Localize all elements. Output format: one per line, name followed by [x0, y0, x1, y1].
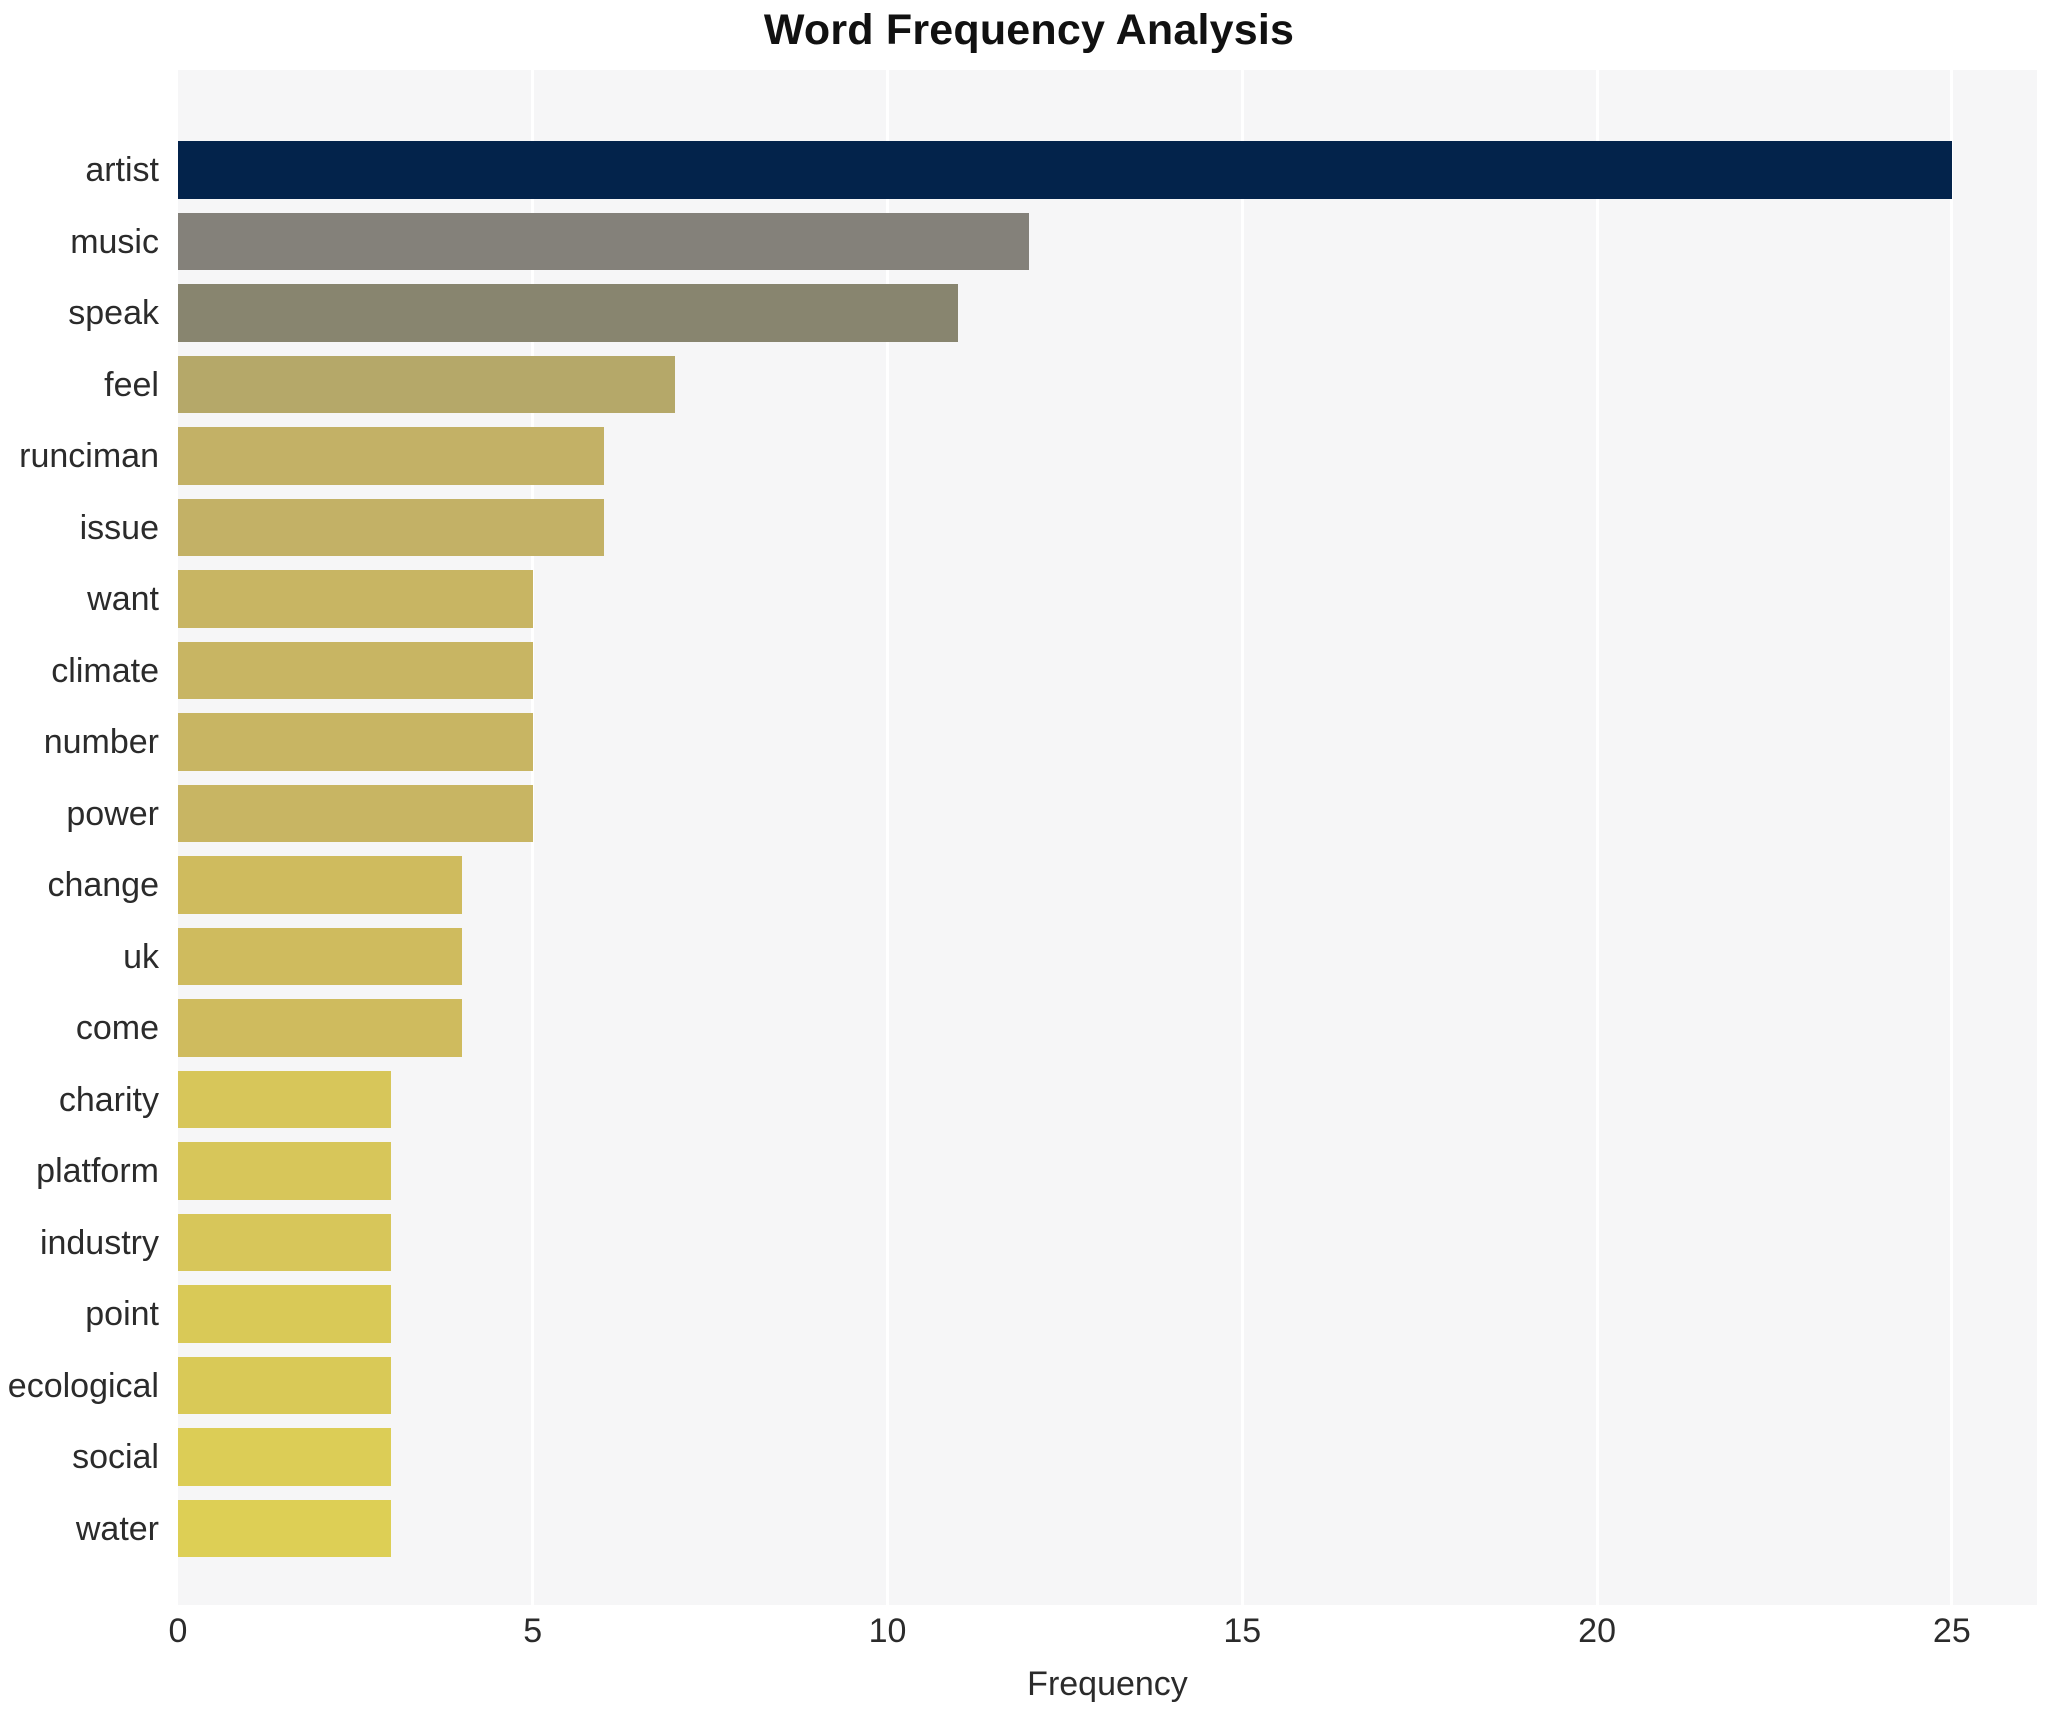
- x-tick-label-0: 0: [169, 1614, 188, 1648]
- x-tick-label-20: 20: [1578, 1614, 1616, 1648]
- y-tick-label-change: change: [47, 868, 159, 902]
- bar-row: [178, 427, 2037, 484]
- bar-artist: [178, 141, 1952, 198]
- y-tick-label-issue: issue: [80, 511, 159, 545]
- bar-row: [178, 642, 2037, 699]
- bars-container: [178, 70, 2037, 1605]
- bar-runciman: [178, 427, 604, 484]
- bar-platform: [178, 1142, 391, 1199]
- plot-area: [178, 70, 2037, 1605]
- bar-row: [178, 713, 2037, 770]
- bar-climate: [178, 642, 533, 699]
- bar-row: [178, 1214, 2037, 1271]
- bar-number: [178, 713, 533, 770]
- x-tick-label-5: 5: [523, 1614, 542, 1648]
- bar-want: [178, 570, 533, 627]
- bar-row: [178, 284, 2037, 341]
- bar-row: [178, 356, 2037, 413]
- x-axis-title: Frequency: [178, 1665, 2037, 1704]
- bar-row: [178, 1500, 2037, 1557]
- bar-power: [178, 785, 533, 842]
- bar-industry: [178, 1214, 391, 1271]
- y-tick-label-charity: charity: [59, 1083, 159, 1117]
- x-tick-label-25: 25: [1933, 1614, 1971, 1648]
- bar-feel: [178, 356, 675, 413]
- y-tick-label-feel: feel: [104, 368, 159, 402]
- y-tick-label-uk: uk: [123, 940, 159, 974]
- y-tick-label-platform: platform: [36, 1154, 159, 1188]
- y-axis: artistmusicspeakfeelruncimanissuewantcli…: [0, 70, 178, 1605]
- bar-row: [178, 1285, 2037, 1342]
- y-tick-label-social: social: [72, 1440, 159, 1474]
- y-tick-label-artist: artist: [85, 153, 159, 187]
- x-tick-label-10: 10: [869, 1614, 907, 1648]
- bar-row: [178, 856, 2037, 913]
- bar-come: [178, 999, 462, 1056]
- y-tick-label-ecological: ecological: [8, 1369, 159, 1403]
- bar-speak: [178, 284, 958, 341]
- bar-change: [178, 856, 462, 913]
- y-tick-label-music: music: [70, 225, 159, 259]
- x-axis-ticks: 0510152025: [0, 1614, 2058, 1664]
- bar-row: [178, 570, 2037, 627]
- bar-row: [178, 928, 2037, 985]
- y-tick-label-come: come: [76, 1011, 159, 1045]
- y-tick-label-power: power: [66, 797, 159, 831]
- y-tick-label-runciman: runciman: [19, 439, 159, 473]
- bar-row: [178, 785, 2037, 842]
- bar-row: [178, 999, 2037, 1056]
- y-tick-label-number: number: [44, 725, 159, 759]
- bar-ecological: [178, 1357, 391, 1414]
- bar-water: [178, 1500, 391, 1557]
- y-tick-label-want: want: [87, 582, 159, 616]
- y-tick-label-industry: industry: [40, 1226, 159, 1260]
- bar-row: [178, 141, 2037, 198]
- y-tick-label-point: point: [85, 1297, 159, 1331]
- word-frequency-chart: Word Frequency Analysis artistmusicspeak…: [0, 0, 2058, 1710]
- bar-point: [178, 1285, 391, 1342]
- y-tick-label-water: water: [76, 1512, 159, 1546]
- bar-music: [178, 213, 1029, 270]
- bar-row: [178, 1428, 2037, 1485]
- bar-uk: [178, 928, 462, 985]
- bar-row: [178, 1071, 2037, 1128]
- bar-row: [178, 1142, 2037, 1199]
- y-tick-label-climate: climate: [51, 654, 159, 688]
- bar-row: [178, 1357, 2037, 1414]
- y-tick-label-speak: speak: [68, 296, 159, 330]
- bar-row: [178, 213, 2037, 270]
- x-tick-label-15: 15: [1223, 1614, 1261, 1648]
- bar-row: [178, 499, 2037, 556]
- chart-title: Word Frequency Analysis: [0, 6, 2058, 55]
- bar-charity: [178, 1071, 391, 1128]
- bar-issue: [178, 499, 604, 556]
- bar-social: [178, 1428, 391, 1485]
